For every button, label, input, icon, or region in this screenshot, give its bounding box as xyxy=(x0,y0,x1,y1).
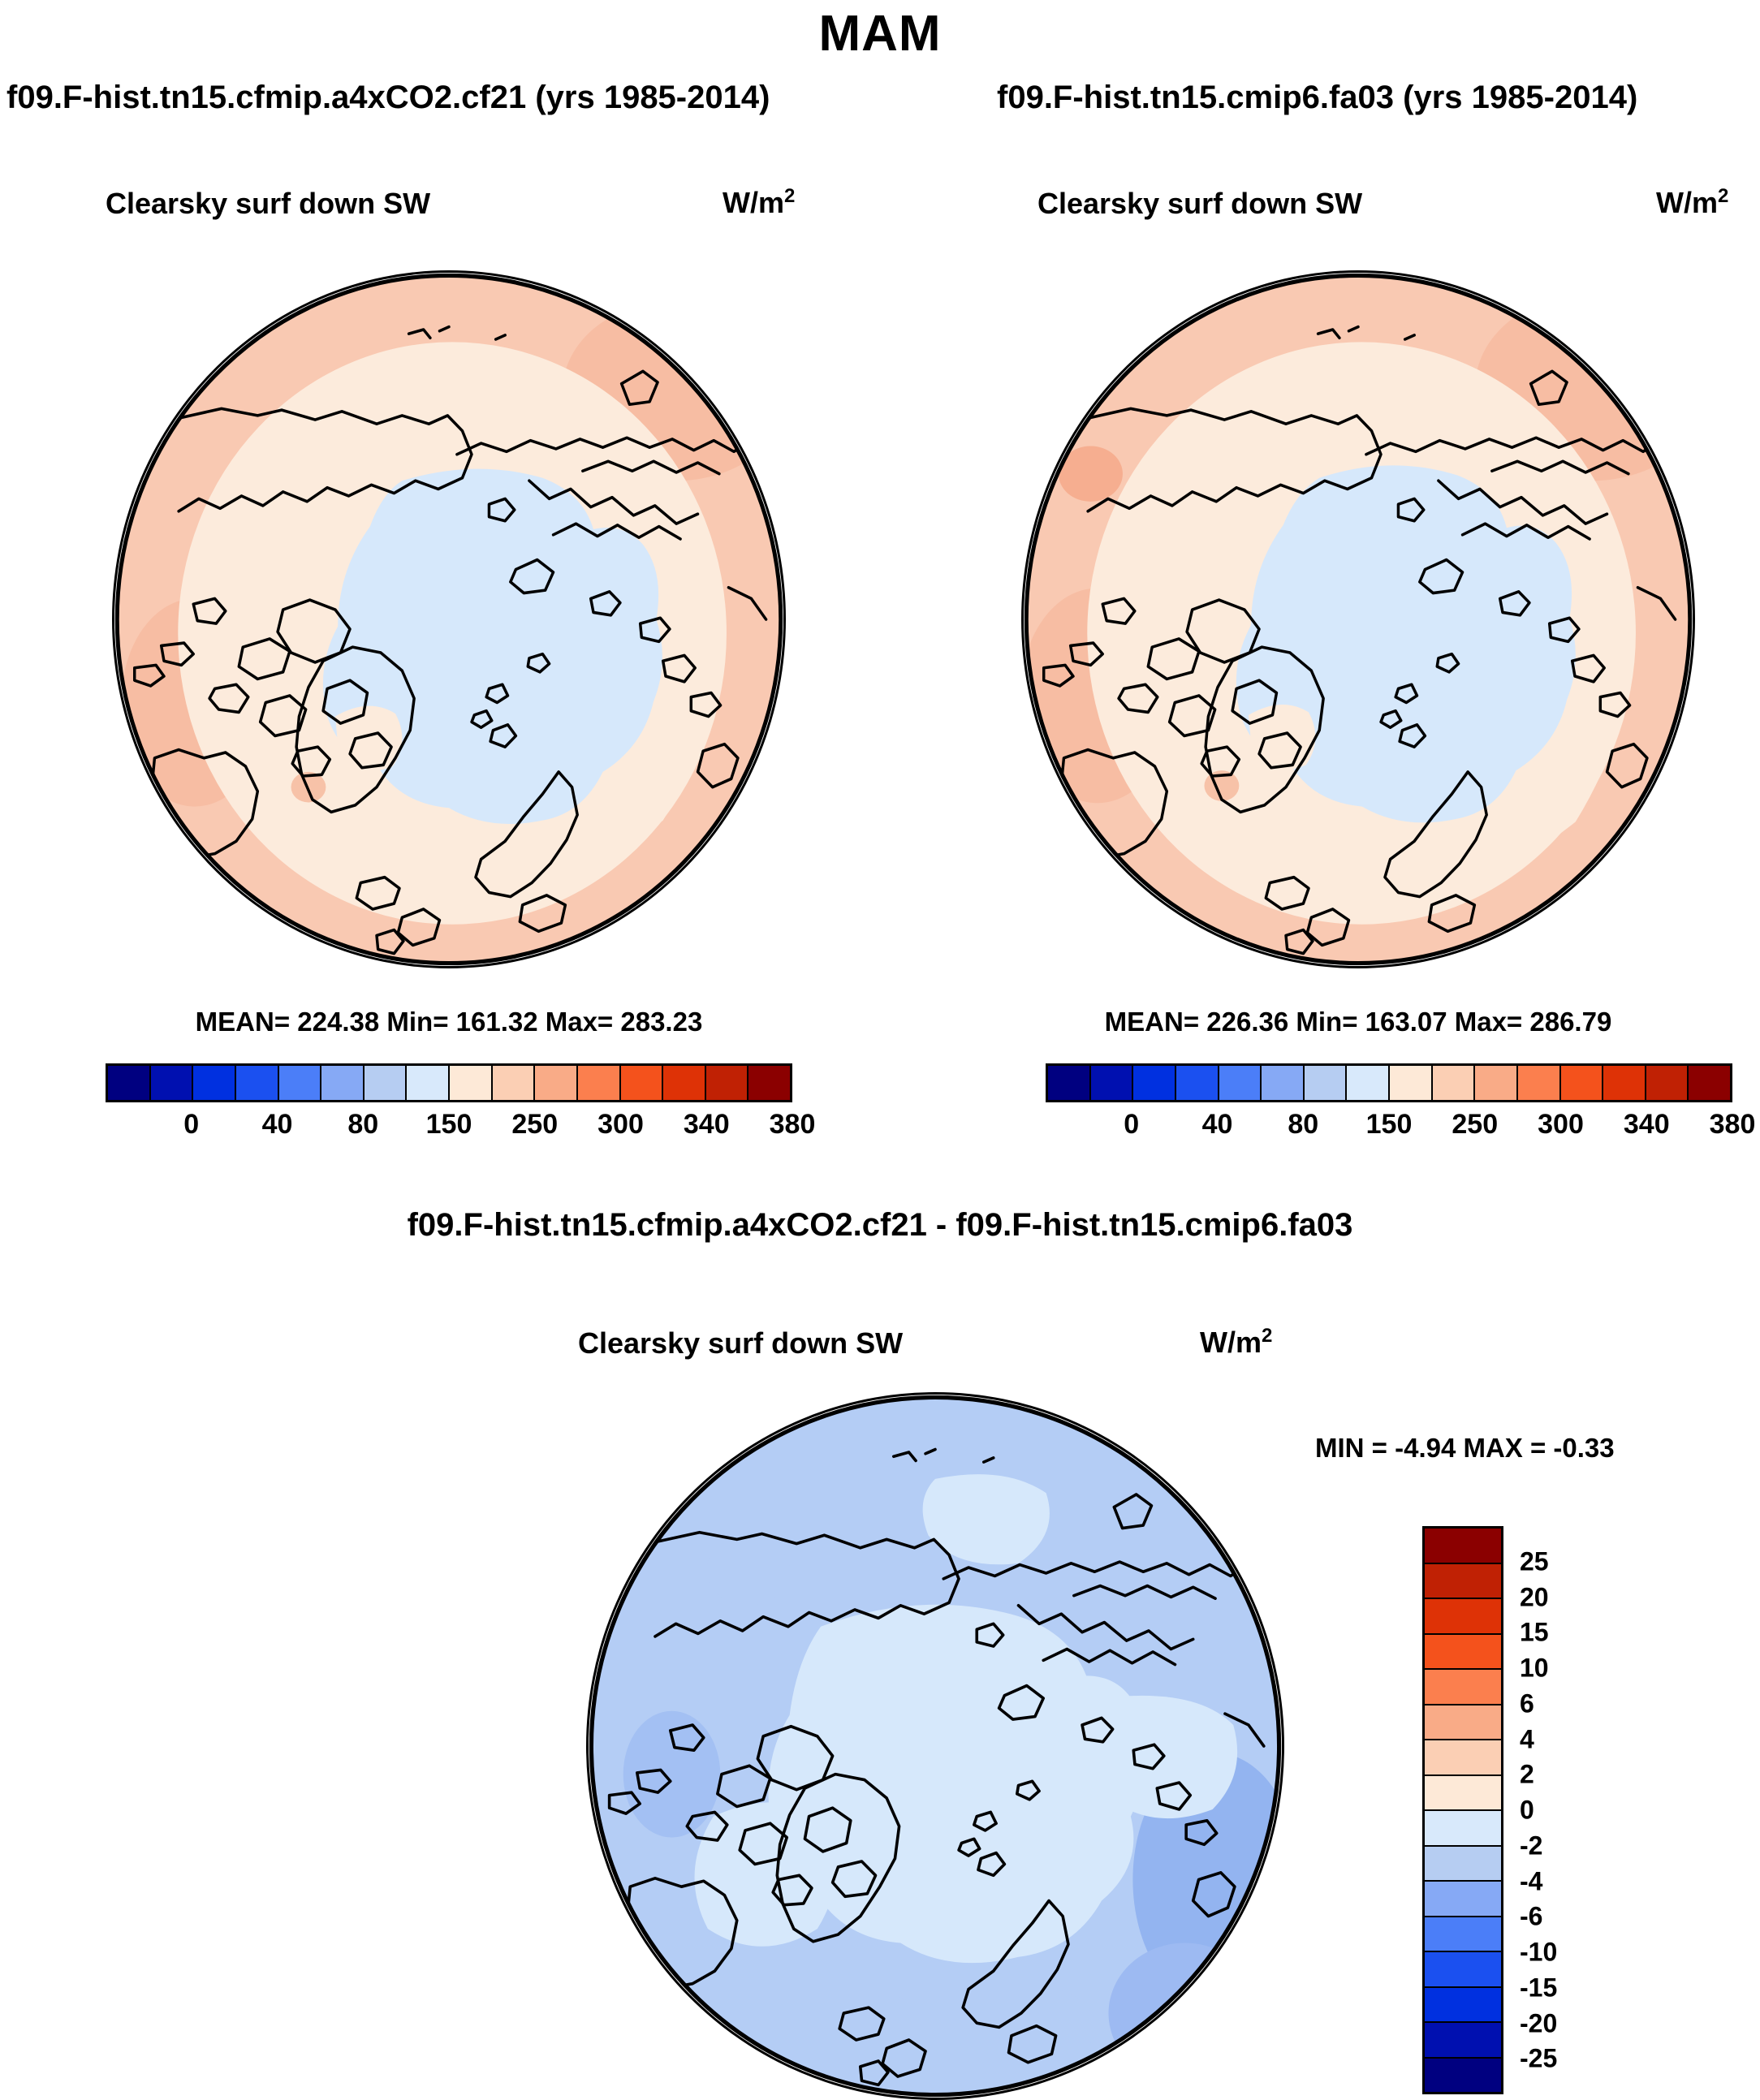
colorbar-segment-1 xyxy=(1091,1066,1134,1100)
difference-polar-map[interactable] xyxy=(586,1392,1284,2100)
diff-colorbar-segment-5 xyxy=(1425,1705,1501,1741)
colorbar-segment-10 xyxy=(535,1066,578,1100)
diff-colorbar-segment-4 xyxy=(1425,1670,1501,1705)
colorbar-segment-4 xyxy=(1219,1066,1262,1100)
colorbar-tick-380: 380 xyxy=(770,1109,816,1141)
right-colorbar[interactable] xyxy=(1046,1063,1732,1102)
colorbar-segment-14 xyxy=(1646,1066,1689,1100)
diff-colorbar-segment-2 xyxy=(1425,1599,1501,1635)
difference-panel-title: f09.F-hist.tn15.cfmip.a4xCO2.cf21 - f09.… xyxy=(0,1207,1760,1244)
left-polar-map[interactable] xyxy=(112,270,786,968)
colorbar-segment-12 xyxy=(1561,1066,1604,1100)
diff-colorbar-segment-8 xyxy=(1425,1811,1501,1847)
diff-colorbar-segment-15 xyxy=(1425,2059,1501,2093)
right-polar-map[interactable] xyxy=(1021,270,1695,968)
diff-colorbar-tick-10: 10 xyxy=(1520,1654,1549,1684)
left-panel-title: f09.F-hist.tn15.cfmip.a4xCO2.cf21 (yrs 1… xyxy=(6,80,770,116)
diff-colorbar-segment-0 xyxy=(1425,1529,1501,1564)
diff-colorbar-tick-25: 25 xyxy=(1520,1546,1549,1576)
diff-colorbar-tick-0: 0 xyxy=(1520,1796,1534,1826)
colorbar-tick-340: 340 xyxy=(684,1109,730,1141)
colorbar-tick-80: 80 xyxy=(1288,1109,1318,1141)
colorbar-segment-7 xyxy=(1347,1066,1390,1100)
difference-stats: MIN = -4.94 MAX = -0.33 xyxy=(1315,1433,1615,1464)
right-variable-label: Clearsky surf down SW xyxy=(1037,187,1362,221)
left-colorbar-labels: 04080150250300340380 xyxy=(106,1109,792,1149)
diff-colorbar-segment-14 xyxy=(1425,2023,1501,2059)
right-panel-title: f09.F-hist.tn15.cmip6.fa03 (yrs 1985-201… xyxy=(997,80,1637,116)
diff-colorbar-tick-neg6: -6 xyxy=(1520,1902,1542,1932)
difference-units-label: W/m2 xyxy=(1200,1325,1272,1360)
left-variable-label: Clearsky surf down SW xyxy=(106,187,430,221)
diff-colorbar-segment-11 xyxy=(1425,1917,1501,1953)
colorbar-tick-250: 250 xyxy=(1452,1109,1498,1141)
figure-title: MAM xyxy=(0,5,1760,63)
diff-colorbar-segment-1 xyxy=(1425,1564,1501,1600)
diff-colorbar-tick-neg20: -20 xyxy=(1520,2008,1557,2038)
colorbar-segment-9 xyxy=(1433,1066,1476,1100)
colorbar-segment-10 xyxy=(1475,1066,1518,1100)
colorbar-tick-150: 150 xyxy=(426,1109,472,1141)
colorbar-tick-0: 0 xyxy=(1124,1109,1139,1141)
left-units-label: W/m2 xyxy=(723,185,795,220)
colorbar-segment-9 xyxy=(493,1066,536,1100)
colorbar-segment-3 xyxy=(1176,1066,1219,1100)
colorbar-tick-80: 80 xyxy=(347,1109,378,1141)
colorbar-segment-13 xyxy=(1603,1066,1646,1100)
colorbar-segment-5 xyxy=(321,1066,365,1100)
colorbar-tick-340: 340 xyxy=(1624,1109,1670,1141)
colorbar-segment-8 xyxy=(450,1066,493,1100)
colorbar-segment-0 xyxy=(1048,1066,1091,1100)
colorbar-tick-300: 300 xyxy=(597,1109,644,1141)
diff-colorbar-tick-neg2: -2 xyxy=(1520,1830,1542,1861)
colorbar-segment-15 xyxy=(748,1066,790,1100)
colorbar-segment-12 xyxy=(621,1066,664,1100)
colorbar-segment-7 xyxy=(407,1066,450,1100)
diff-colorbar-segment-7 xyxy=(1425,1776,1501,1812)
colorbar-tick-0: 0 xyxy=(183,1109,199,1141)
colorbar-segment-5 xyxy=(1262,1066,1305,1100)
colorbar-segment-1 xyxy=(151,1066,194,1100)
diff-colorbar-tick-neg25: -25 xyxy=(1520,2044,1557,2074)
diff-colorbar-segment-12 xyxy=(1425,1952,1501,1988)
diff-colorbar-segment-6 xyxy=(1425,1740,1501,1776)
diff-colorbar-tick-6: 6 xyxy=(1520,1688,1534,1718)
colorbar-segment-0 xyxy=(108,1066,151,1100)
colorbar-segment-2 xyxy=(1133,1066,1176,1100)
diff-colorbar-segment-13 xyxy=(1425,1988,1501,2024)
colorbar-tick-40: 40 xyxy=(262,1109,293,1141)
colorbar-segment-4 xyxy=(279,1066,322,1100)
colorbar-tick-250: 250 xyxy=(511,1109,558,1141)
left-stats: MEAN= 224.38 Min= 161.32 Max= 283.23 xyxy=(112,1007,786,1037)
diff-colorbar-tick-15: 15 xyxy=(1520,1618,1549,1648)
colorbar-tick-300: 300 xyxy=(1538,1109,1584,1141)
colorbar-segment-2 xyxy=(193,1066,236,1100)
colorbar-segment-3 xyxy=(236,1066,279,1100)
diff-colorbar-tick-neg10: -10 xyxy=(1520,1938,1557,1968)
diff-colorbar-tick-neg15: -15 xyxy=(1520,1973,1557,2003)
diff-colorbar-segment-9 xyxy=(1425,1847,1501,1882)
left-colorbar[interactable] xyxy=(106,1063,792,1102)
colorbar-segment-15 xyxy=(1689,1066,1730,1100)
colorbar-tick-150: 150 xyxy=(1366,1109,1413,1141)
colorbar-segment-14 xyxy=(706,1066,749,1100)
right-stats: MEAN= 226.36 Min= 163.07 Max= 286.79 xyxy=(1021,1007,1695,1037)
colorbar-segment-11 xyxy=(1518,1066,1561,1100)
diff-colorbar-tick-20: 20 xyxy=(1520,1582,1549,1612)
colorbar-tick-380: 380 xyxy=(1710,1109,1756,1141)
diff-colorbar-tick-4: 4 xyxy=(1520,1724,1534,1754)
difference-colorbar-labels: 252015106420-2-4-6-10-15-20-25 xyxy=(1520,1526,1617,2094)
colorbar-segment-11 xyxy=(578,1066,621,1100)
colorbar-segment-6 xyxy=(1305,1066,1348,1100)
colorbar-segment-6 xyxy=(365,1066,408,1100)
difference-colorbar[interactable] xyxy=(1422,1526,1503,2094)
colorbar-segment-13 xyxy=(663,1066,706,1100)
diff-colorbar-tick-neg4: -4 xyxy=(1520,1866,1542,1896)
diff-colorbar-segment-10 xyxy=(1425,1882,1501,1917)
right-units-label: W/m2 xyxy=(1656,185,1728,220)
colorbar-segment-8 xyxy=(1390,1066,1433,1100)
right-colorbar-labels: 04080150250300340380 xyxy=(1046,1109,1732,1149)
difference-variable-label: Clearsky surf down SW xyxy=(578,1326,903,1360)
diff-colorbar-tick-2: 2 xyxy=(1520,1760,1534,1790)
colorbar-tick-40: 40 xyxy=(1202,1109,1233,1141)
diff-colorbar-segment-3 xyxy=(1425,1635,1501,1671)
